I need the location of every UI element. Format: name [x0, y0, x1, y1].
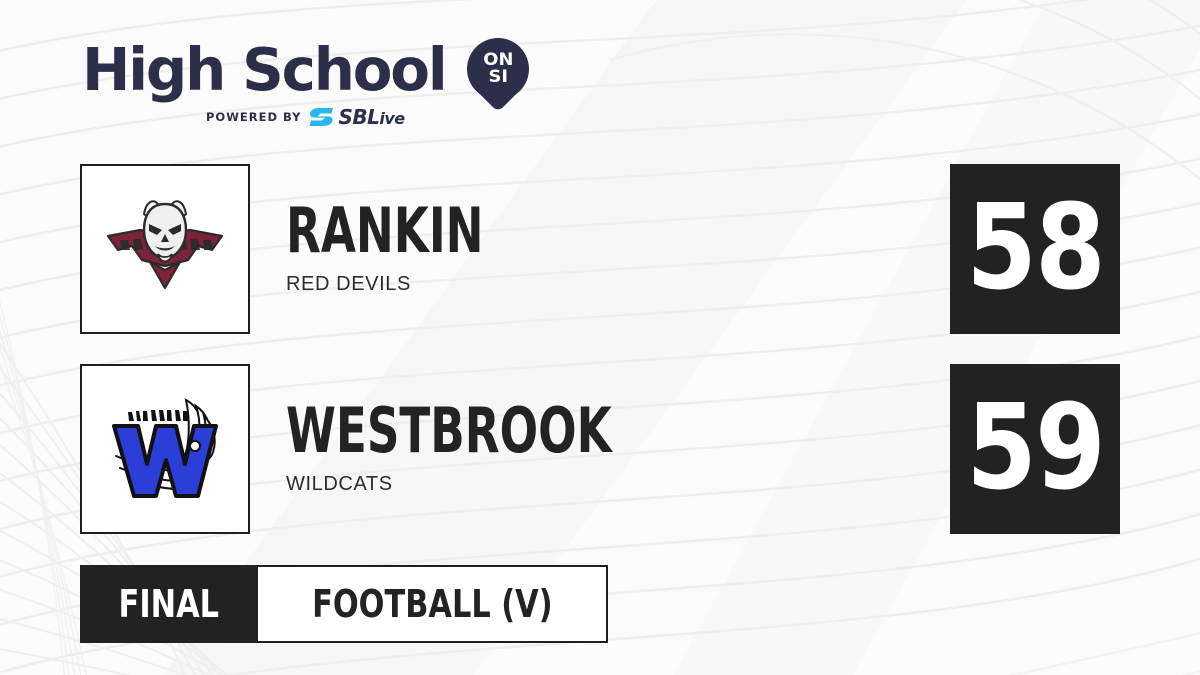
powered-by-row: POWERED BY SBLive — [206, 107, 529, 127]
team-score-box: 59 — [950, 364, 1120, 534]
sblive-wordmark: SBLive — [338, 107, 404, 127]
team-name: RANKIN — [286, 202, 484, 261]
sport-label: FOOTBALL (V) — [312, 582, 553, 626]
status-bar: FINAL FOOTBALL (V) — [80, 565, 608, 643]
team-score: 59 — [966, 388, 1104, 506]
wildcats-logo — [100, 384, 230, 514]
status-badge-label: FINAL — [119, 582, 219, 626]
scoreboard-card: High School ON SI POWERED BY SBLive — [0, 0, 1200, 675]
sblive-upper: SBL — [338, 105, 379, 129]
team-row[interactable]: RANKIN RED DEVILS — [80, 164, 557, 334]
pin-label-si: SI — [488, 70, 508, 86]
brand-header: High School ON SI POWERED BY SBLive — [82, 38, 529, 127]
team-score: 58 — [966, 188, 1104, 306]
powered-by-label: POWERED BY — [206, 110, 301, 124]
team-row[interactable]: WESTBROOK WILDCATS — [80, 364, 732, 534]
team-mascot: RED DEVILS — [286, 273, 557, 296]
status-badge: FINAL — [80, 565, 258, 643]
team-logo-box — [80, 164, 250, 334]
team-mascot: WILDCATS — [286, 473, 732, 496]
sblive-logo: SBLive — [309, 107, 404, 127]
sblive-s-mark-icon — [309, 107, 335, 127]
sport-label-panel: FOOTBALL (V) — [258, 565, 609, 643]
on-si-pin-icon: ON SI — [467, 38, 529, 100]
team-score-box: 58 — [950, 164, 1120, 334]
red-devils-logo — [100, 184, 230, 314]
sblive-lower: ive — [379, 109, 404, 128]
team-logo-box — [80, 364, 250, 534]
page-title: High School — [82, 40, 446, 99]
team-name: WESTBROOK — [286, 402, 612, 461]
